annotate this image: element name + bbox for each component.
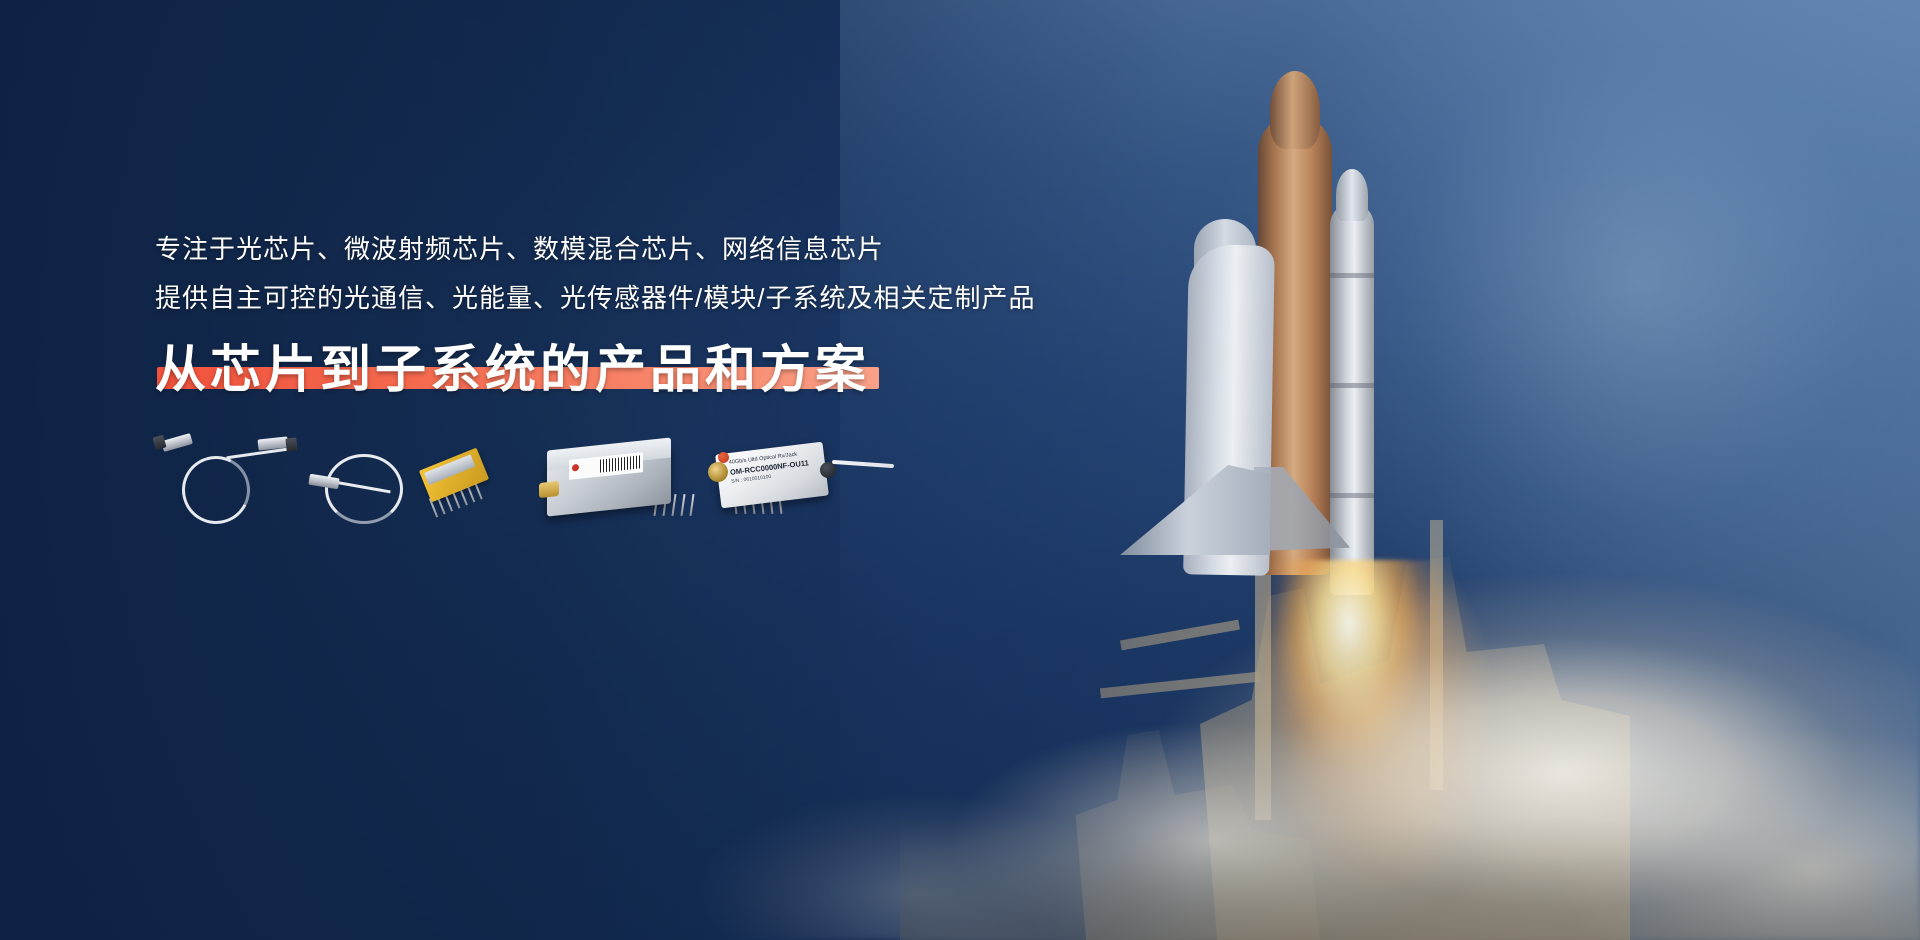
fiber-lead <box>226 448 288 460</box>
product-image-metal-rf-module <box>535 438 695 538</box>
barcode-icon <box>600 455 640 472</box>
booster-band <box>1330 273 1374 278</box>
hero-subtitle-line-2: 提供自主可控的光通信、光能量、光传感器件/模块/子系统及相关定制产品 <box>155 277 1155 319</box>
output-fiber-cable <box>832 460 894 468</box>
hero-banner: 专注于光芯片、微波射频芯片、数模混合芯片、网络信息芯片 提供自主可控的光通信、光… <box>0 0 1920 940</box>
product-showcase-strip: 40Gb/s Ultd Optical Rx/Jack OM-RCC0000NF… <box>150 430 870 540</box>
hero-headline: 从芯片到子系统的产品和方案 <box>155 341 870 398</box>
fiber-loop <box>173 447 259 533</box>
fiber-connector-left <box>161 433 193 452</box>
housing-knob <box>820 462 836 478</box>
hero-headline-wrapper: 从芯片到子系统的产品和方案 <box>155 341 870 398</box>
booster-band <box>1330 493 1374 498</box>
product-image-butterfly-laser-diode-module <box>315 440 515 540</box>
brand-mark-icon <box>572 464 579 472</box>
product-image-fiber-pigtail-assembly <box>160 430 310 535</box>
sma-connector <box>539 481 559 498</box>
booster-band <box>1330 383 1374 388</box>
hero-copy-block: 专注于光芯片、微波射频芯片、数模混合芯片、网络信息芯片 提供自主可控的光通信、光… <box>155 228 1155 398</box>
connector-cap-right <box>285 437 297 451</box>
butterfly-package-lid <box>424 454 475 485</box>
hero-subtitle-line-1: 专注于光芯片、微波射频芯片、数模混合芯片、网络信息芯片 <box>155 228 1155 270</box>
ground-terrain <box>900 820 1920 940</box>
product-image-optical-receiver-module: 40Gb/s Ultd Optical Rx/Jack OM-RCC0000NF… <box>710 432 895 540</box>
